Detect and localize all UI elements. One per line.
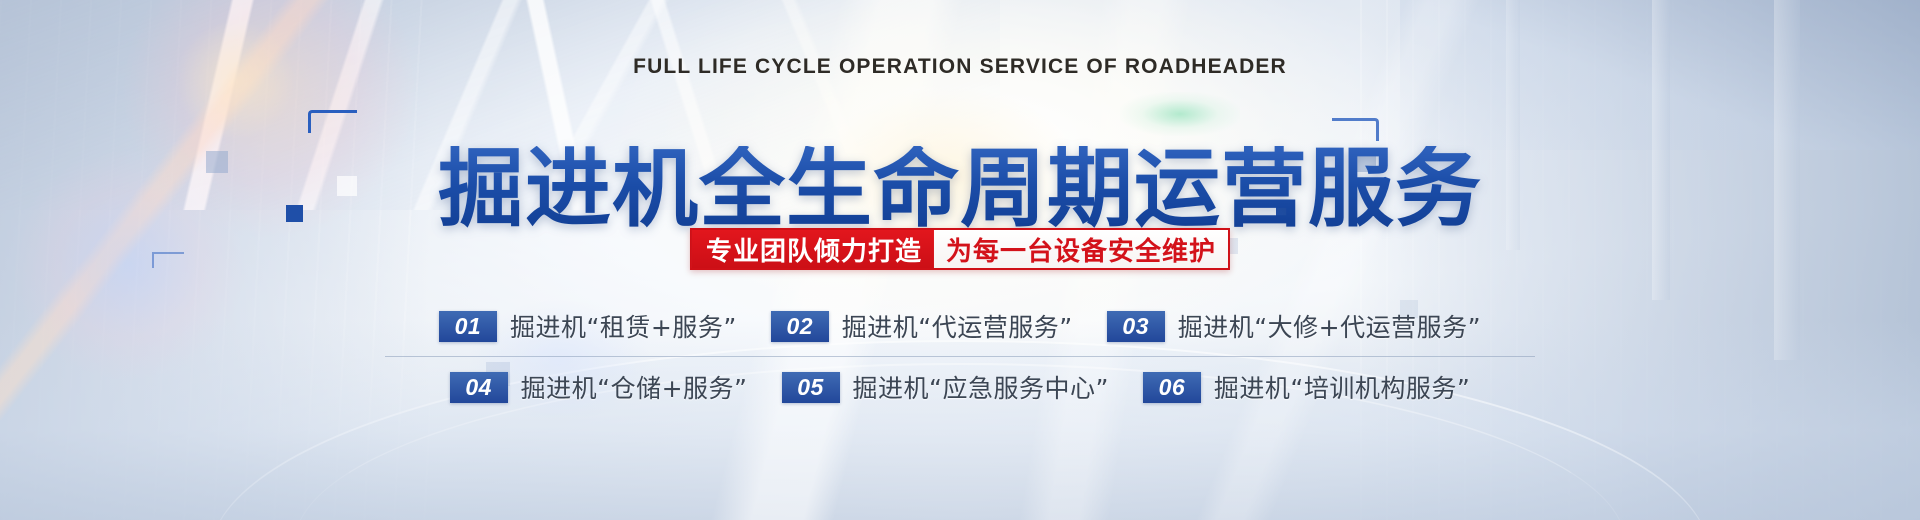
service-label: 掘进机“租赁+服务” (510, 308, 737, 344)
service-item-04[interactable]: 04 掘进机“仓储+服务” (450, 369, 748, 405)
service-number-badge: 05 (782, 372, 840, 403)
service-item-02[interactable]: 02 掘进机“代运营服务” (771, 308, 1073, 344)
service-item-01[interactable]: 01 掘进机“租赁+服务” (439, 308, 737, 344)
tagline-secondary: 为每一台设备安全维护 (934, 230, 1228, 268)
service-list: 01 掘进机“租赁+服务” 02 掘进机“代运营服务” 03 掘进机“大修+代运… (385, 296, 1535, 417)
banner-headline: 掘进机全生命周期运营服务 (0, 146, 1920, 232)
service-item-06[interactable]: 06 掘进机“培训机构服务” (1143, 369, 1470, 405)
service-number-badge: 01 (439, 311, 497, 342)
service-label: 掘进机“代运营服务” (842, 308, 1073, 344)
service-label: 掘进机“大修+代运营服务” (1178, 308, 1481, 344)
tagline-primary: 专业团队倾力打造 (692, 230, 934, 268)
service-number-badge: 03 (1107, 311, 1165, 342)
service-number-badge: 06 (1143, 372, 1201, 403)
service-row-bottom: 04 掘进机“仓储+服务” 05 掘进机“应急服务中心” 06 掘进机“培训机构… (385, 357, 1535, 417)
banner-content: FULL LIFE CYCLE OPERATION SERVICE OF ROA… (0, 0, 1920, 520)
service-number-badge: 02 (771, 311, 829, 342)
service-item-05[interactable]: 05 掘进机“应急服务中心” (782, 369, 1109, 405)
service-label: 掘进机“应急服务中心” (853, 369, 1109, 405)
roadheader-promo-banner: FULL LIFE CYCLE OPERATION SERVICE OF ROA… (0, 0, 1920, 520)
tagline-banner: 专业团队倾力打造 为每一台设备安全维护 (690, 228, 1230, 270)
banner-eyebrow-english: FULL LIFE CYCLE OPERATION SERVICE OF ROA… (0, 55, 1920, 79)
service-number-badge: 04 (450, 372, 508, 403)
service-label: 掘进机“仓储+服务” (521, 369, 748, 405)
service-item-03[interactable]: 03 掘进机“大修+代运营服务” (1107, 308, 1481, 344)
service-row-top: 01 掘进机“租赁+服务” 02 掘进机“代运营服务” 03 掘进机“大修+代运… (385, 296, 1535, 357)
service-label: 掘进机“培训机构服务” (1214, 369, 1470, 405)
